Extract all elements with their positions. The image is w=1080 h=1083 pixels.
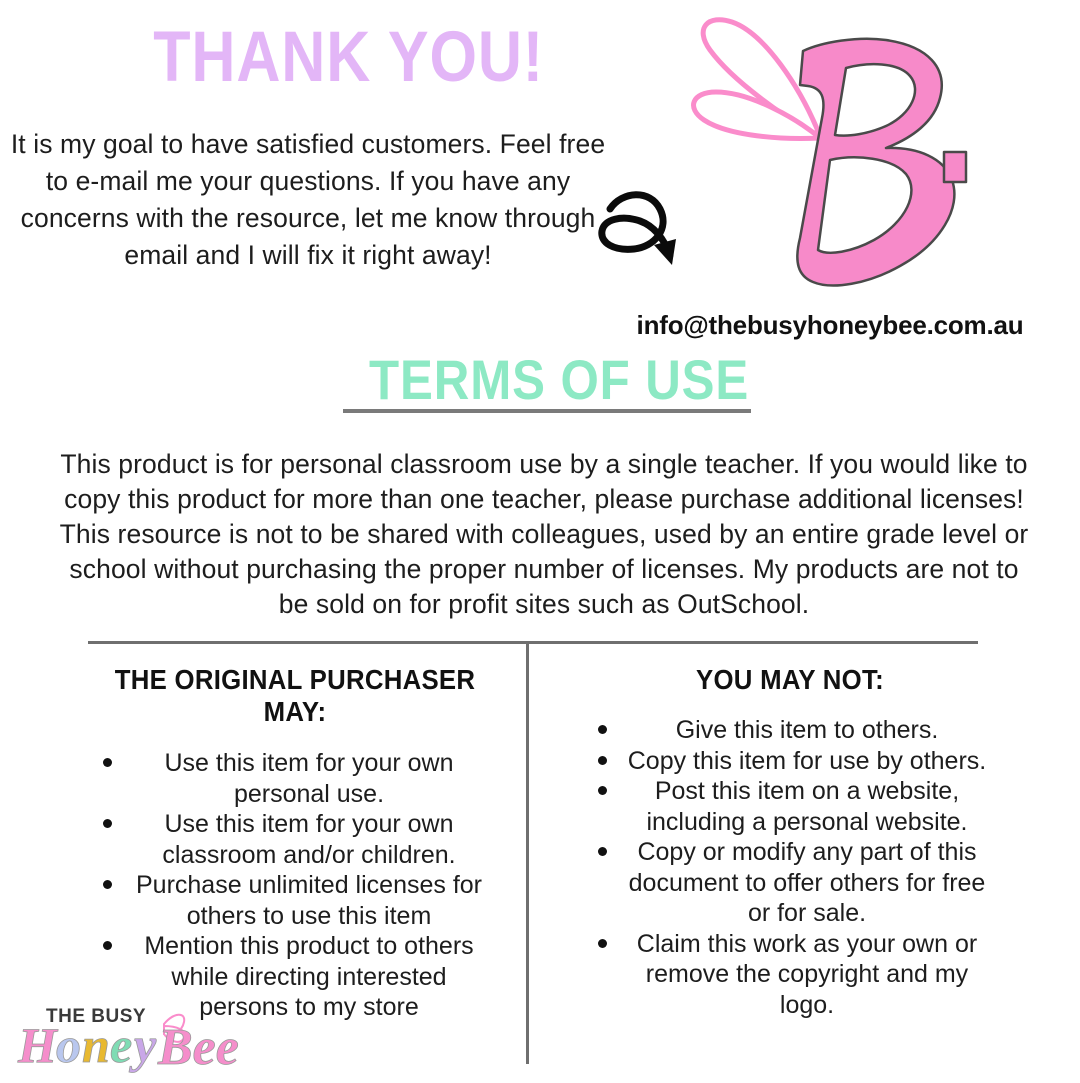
vertical-divider (526, 641, 529, 1064)
list-item: Copy or modify any part of this document… (560, 837, 1020, 929)
bee-letter-b-icon (672, 6, 984, 302)
bullet-dot-icon (598, 756, 607, 765)
bullet-dot-icon (103, 880, 112, 889)
logo-letter-h: H (17, 1017, 59, 1073)
permission-list: Use this item for your own personal use.… (70, 748, 520, 1023)
bullet-text: Post this item on a website, including a… (646, 777, 967, 836)
bullet-text: Copy or modify any part of this document… (629, 838, 986, 927)
terms-of-use-page: THANK YOU! It is my goal to have satisfi… (0, 0, 1080, 1080)
logo-honey-word: H o n e y (17, 1017, 157, 1073)
busy-honey-bee-logo: THE BUSY H o n e y Bee (14, 1000, 244, 1078)
bullet-text: Use this item for your own classroom and… (162, 810, 455, 869)
column-you-may-not: YOU MAY NOT: Give this item to others.Co… (560, 664, 1020, 1020)
page-title: THANK YOU! (153, 22, 463, 93)
contact-email[interactable]: info@thebusyhoneybee.com.au (610, 310, 1050, 341)
bullet-text: Copy this item for use by others. (628, 747, 986, 775)
bullet-text: Claim this work as your own or remove th… (637, 930, 977, 1019)
bullet-text: Give this item to others. (676, 716, 939, 744)
bullet-dot-icon (598, 786, 607, 795)
terms-of-use-heading: TERMS OF USE (369, 352, 721, 408)
logo-letter-y: y (129, 1017, 157, 1073)
logo-word-bee: Bee (157, 1019, 239, 1076)
intro-paragraph: It is my goal to have satisfied customer… (10, 126, 606, 274)
logo-letter-n: n (82, 1017, 110, 1073)
list-item: Give this item to others. (560, 715, 1020, 746)
bullet-text: Use this item for your own personal use. (165, 749, 454, 808)
horizontal-divider (88, 641, 978, 644)
list-item: Copy this item for use by others. (560, 746, 1020, 777)
bullet-dot-icon (103, 941, 112, 950)
bullet-text: Purchase unlimited licenses for others t… (136, 871, 482, 930)
logo-letter-o: o (56, 1017, 81, 1073)
bullet-dot-icon (103, 758, 112, 767)
column-purchaser-may: THE ORIGINAL PURCHASER MAY: Use this ite… (70, 664, 520, 1023)
list-item: Post this item on a website, including a… (560, 776, 1020, 837)
bullet-dot-icon (598, 725, 607, 734)
bullet-dot-icon (103, 819, 112, 828)
bullet-dot-icon (598, 939, 607, 948)
list-item: Claim this work as your own or remove th… (560, 929, 1020, 1021)
terms-paragraph: This product is for personal classroom u… (55, 447, 1033, 622)
bullet-dot-icon (598, 847, 607, 856)
restriction-list: Give this item to others.Copy this item … (560, 715, 1020, 1020)
column-heading-may-not: YOU MAY NOT: (578, 664, 1001, 696)
letter-b-shape (797, 39, 966, 286)
column-heading-may: THE ORIGINAL PURCHASER MAY: (88, 664, 502, 728)
logo-letter-e: e (110, 1017, 132, 1073)
list-item: Use this item for your own personal use. (70, 748, 520, 809)
heading-underline (343, 409, 751, 413)
list-item: Purchase unlimited licenses for others t… (70, 870, 520, 931)
list-item: Use this item for your own classroom and… (70, 809, 520, 870)
